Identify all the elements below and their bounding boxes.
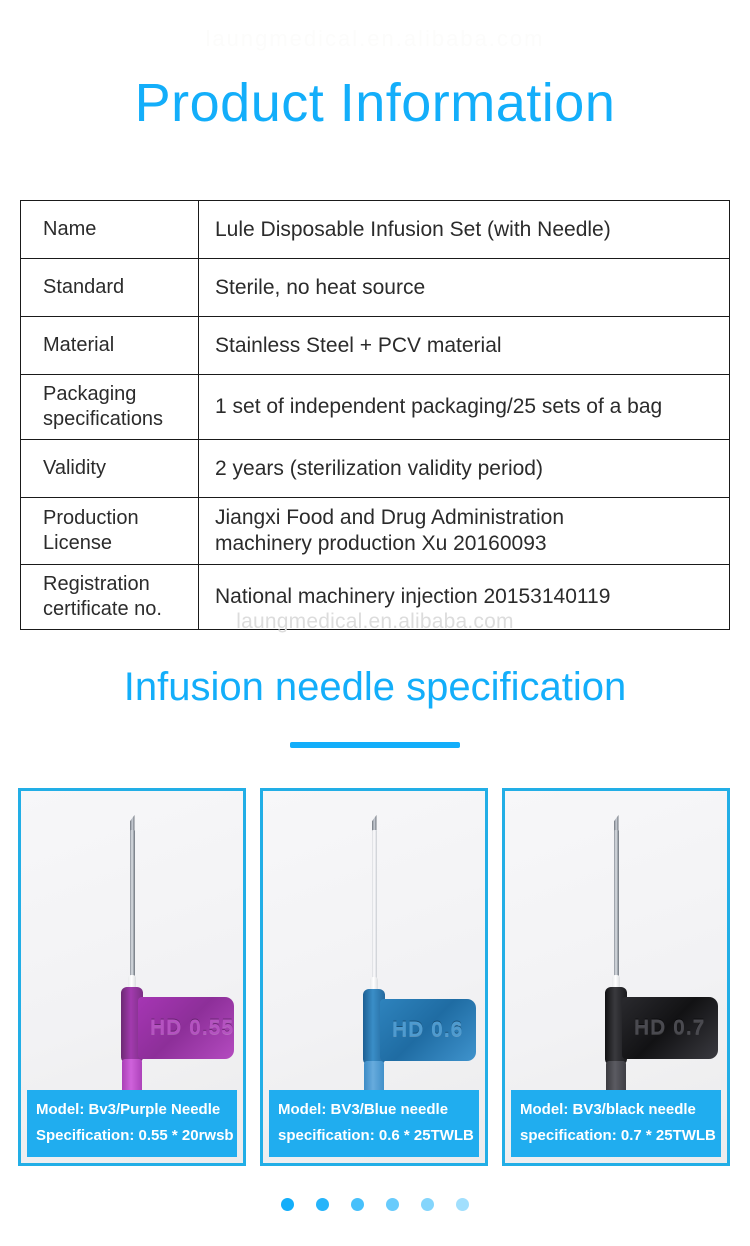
table-row: Validity 2 years (sterilization validity…: [21, 440, 730, 498]
table-row: Production License Jiangxi Food and Drug…: [21, 498, 730, 565]
background-watermark-top: laungmedical.en.alibaba.com: [0, 26, 750, 52]
carousel-dot-4[interactable]: [386, 1198, 399, 1211]
table-row-value: Sterile, no heat source: [199, 259, 730, 317]
table-row-key-line2: License: [43, 531, 198, 556]
table-row-value: Stainless Steel + PCV material: [199, 317, 730, 375]
site-watermark: laungmedical.en.alibaba.com: [0, 610, 750, 634]
product-specification-label: specification: 0.6 * 25TWLB: [278, 1123, 470, 1149]
table-row-key: Standard: [21, 259, 199, 317]
needle-wing-flag: HD 0.55: [138, 997, 234, 1059]
table-row: Standard Sterile, no heat source: [21, 259, 730, 317]
carousel-dot-2[interactable]: [316, 1198, 329, 1211]
table-row-value: 2 years (sterilization validity period): [199, 440, 730, 498]
product-model-label: Model: BV3/Blue needle: [278, 1097, 470, 1123]
table-row-value-line2: machinery production Xu 20160093: [215, 531, 729, 557]
product-specification-label: specification: 0.7 * 25TWLB: [520, 1123, 712, 1149]
product-card-list: HD 0.55 Model: Bv3/Purple Needle Specifi…: [0, 788, 750, 1166]
carousel-dots[interactable]: [0, 1198, 750, 1211]
table-row-key: Material: [21, 317, 199, 375]
carousel-dot-3[interactable]: [351, 1198, 364, 1211]
needle-emboss-label: HD 0.55: [150, 1016, 234, 1040]
needle-wing-flag: HD 0.6: [380, 999, 476, 1061]
section-title: Infusion needle specification: [0, 663, 750, 711]
product-model-label: Model: BV3/black needle: [520, 1097, 712, 1123]
product-spec-table: Name Lule Disposable Infusion Set (with …: [20, 200, 730, 630]
needle-emboss-label: HD 0.6: [392, 1018, 463, 1042]
table-row-value: 1 set of independent packaging/25 sets o…: [199, 375, 730, 440]
table-row-key: Packaging specifications: [21, 375, 199, 440]
table-row-value-line1: Jiangxi Food and Drug Administration: [215, 505, 729, 531]
section-underline: [290, 742, 460, 748]
table-row-key-line2: specifications: [43, 407, 198, 432]
needle-shaft: [614, 830, 619, 980]
product-card-black[interactable]: HD 0.7 Model: BV3/black needle specifica…: [502, 788, 730, 1166]
table-row-value: Lule Disposable Infusion Set (with Needl…: [199, 201, 730, 259]
product-card-purple[interactable]: HD 0.55 Model: Bv3/Purple Needle Specifi…: [18, 788, 246, 1166]
table-row: Packaging specifications 1 set of indepe…: [21, 375, 730, 440]
needle-wing-flag: HD 0.7: [622, 997, 718, 1059]
product-caption-black: Model: BV3/black needle specification: 0…: [511, 1090, 721, 1157]
carousel-dot-1[interactable]: [281, 1198, 294, 1211]
table-row: Material Stainless Steel + PCV material: [21, 317, 730, 375]
product-card-blue[interactable]: HD 0.6 Model: BV3/Blue needle specificat…: [260, 788, 488, 1166]
product-model-label: Model: Bv3/Purple Needle: [36, 1097, 228, 1123]
table-row-key-line1: Production: [43, 506, 198, 531]
needle-shaft: [372, 830, 377, 982]
page-title: Product Information: [0, 72, 750, 134]
product-caption-purple: Model: Bv3/Purple Needle Specification: …: [27, 1090, 237, 1157]
table-row-key: Name: [21, 201, 199, 259]
needle-shaft: [130, 830, 135, 980]
needle-emboss-label: HD 0.7: [634, 1016, 705, 1040]
table-row-value: Jiangxi Food and Drug Administration mac…: [199, 498, 730, 565]
carousel-dot-5[interactable]: [421, 1198, 434, 1211]
table-row-key: Validity: [21, 440, 199, 498]
table-row: Name Lule Disposable Infusion Set (with …: [21, 201, 730, 259]
table-row-key: Production License: [21, 498, 199, 565]
carousel-dot-6[interactable]: [456, 1198, 469, 1211]
product-information-page: laungmedical.en.alibaba.com Product Info…: [0, 0, 750, 1246]
product-caption-blue: Model: BV3/Blue needle specification: 0.…: [269, 1090, 479, 1157]
product-specification-label: Specification: 0.55 * 20rwsb: [36, 1123, 228, 1149]
table-row-key-line1: Packaging: [43, 382, 198, 407]
table-row-key-line1: Registration: [43, 572, 198, 597]
